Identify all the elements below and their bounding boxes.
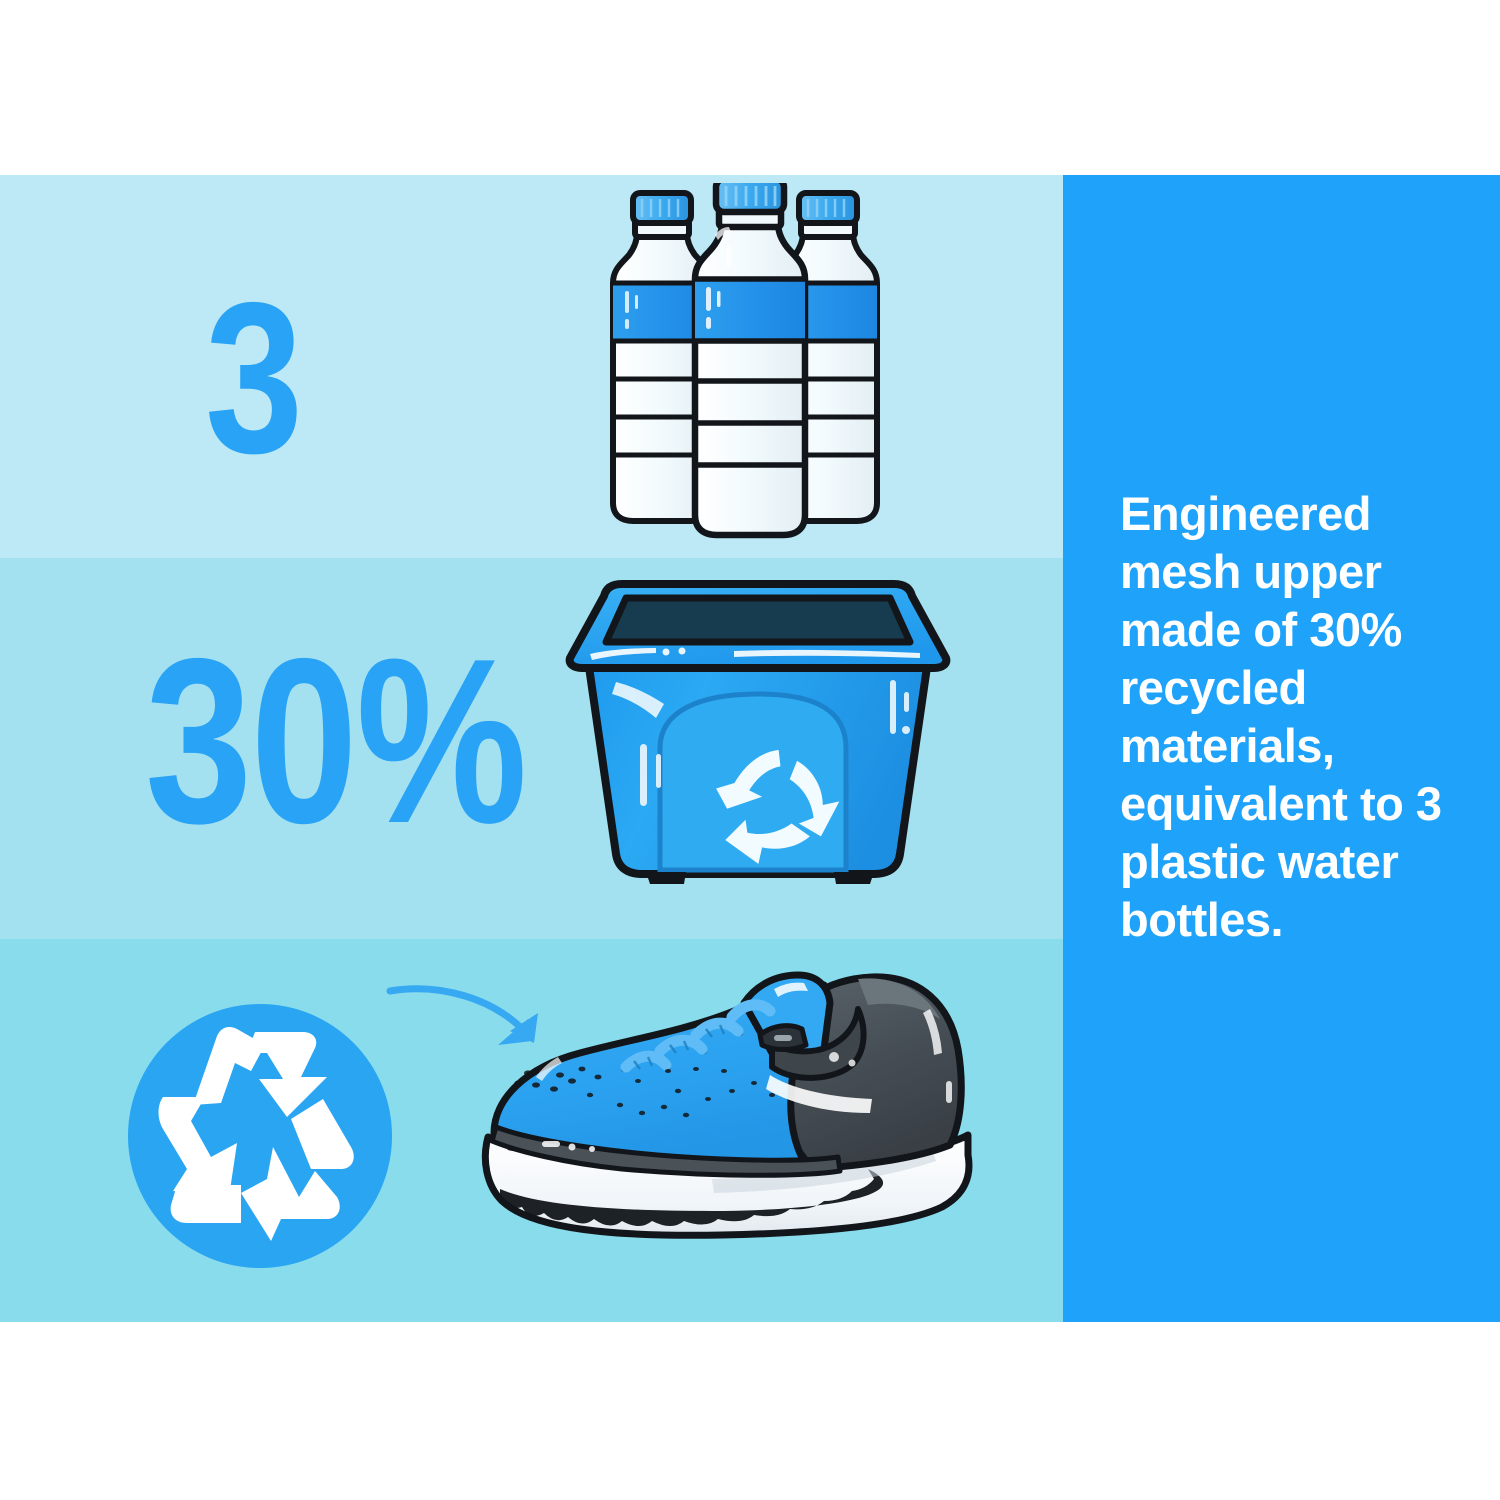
recycling-bin-icon xyxy=(548,572,968,892)
stat-number-bottles: 3 xyxy=(205,270,301,485)
product-description-text: Engineered mesh upper made of 30% recycl… xyxy=(1120,485,1480,949)
row-recycling-bin: 30% xyxy=(0,558,1063,939)
recycle-symbol-icon xyxy=(125,1001,395,1271)
stat-number-percent: 30% xyxy=(145,623,526,858)
row-recycled-shoe xyxy=(0,939,1063,1322)
plastic-water-bottles-icon xyxy=(595,183,895,543)
illustration-column: 3 xyxy=(0,175,1063,1322)
running-shoe-icon xyxy=(472,949,982,1249)
infographic-frame: 3 xyxy=(0,175,1500,1322)
infographic-canvas: 3 xyxy=(0,0,1500,1500)
row-water-bottles: 3 xyxy=(0,175,1063,558)
description-panel: Engineered mesh upper made of 30% recycl… xyxy=(1063,175,1500,1322)
